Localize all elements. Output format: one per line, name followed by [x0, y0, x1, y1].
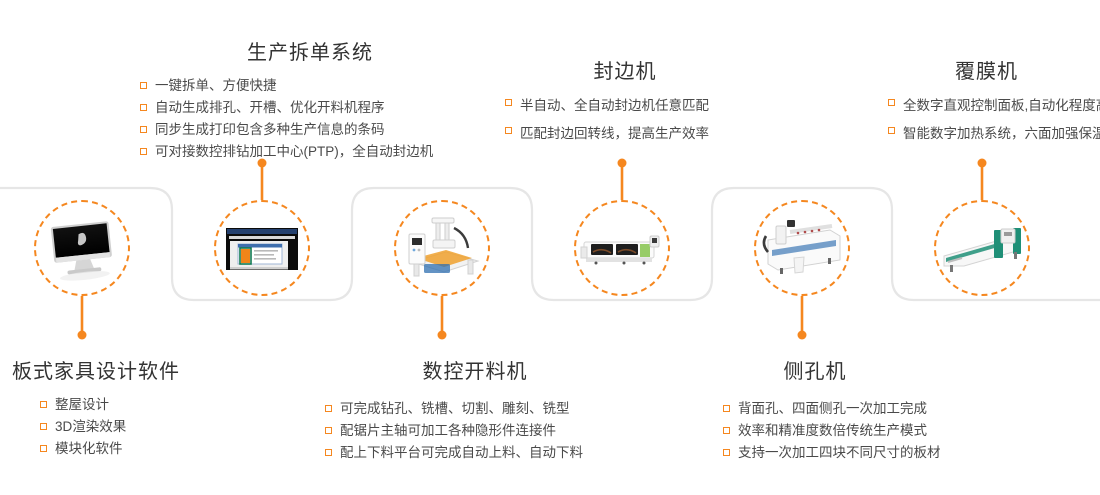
bullet-square-icon — [40, 445, 47, 452]
block-title: 板式家具设计软件 — [12, 355, 272, 384]
list-item: 支持一次加工四块不同尺寸的板材 — [723, 442, 1005, 464]
block-production-splitting-system: 生产拆单系统 一键拆单、方便快捷 自动生成排孔、开槽、优化开料机程序 同步生成打… — [140, 36, 480, 163]
connector-dot-down-3 — [798, 331, 807, 340]
block-edge-banding-machine: 封边机 半自动、全自动封边机任意匹配 匹配封边回转线，提高生产效率 — [505, 55, 745, 148]
list-item: 配锯片主轴可加工各种隐形件连接件 — [325, 420, 625, 442]
node-design-computer[interactable] — [34, 200, 130, 296]
list-item: 匹配封边回转线，提高生产效率 — [505, 120, 745, 148]
list-item: 半自动、全自动封边机任意匹配 — [505, 92, 745, 120]
bullet-square-icon — [723, 449, 730, 456]
list-item: 背面孔、四面侧孔一次加工完成 — [723, 398, 1005, 420]
bullet-square-icon — [888, 127, 895, 134]
list-item: 可完成钻孔、铣槽、切割、雕刻、铣型 — [325, 398, 625, 420]
bullet-list: 可完成钻孔、铣槽、切割、雕刻、铣型 配锯片主轴可加工各种隐形件连接件 配上下料平… — [325, 398, 625, 464]
list-item-label: 同步生成打印包含多种生产信息的条码 — [155, 122, 385, 137]
bullet-square-icon — [325, 427, 332, 434]
list-item-label: 智能数字加热系统，六面加强保温 — [903, 126, 1100, 141]
connector-dot-down-1 — [78, 331, 87, 340]
list-item-label: 背面孔、四面侧孔一次加工完成 — [738, 401, 927, 416]
node-edge-bander[interactable] — [574, 200, 670, 296]
list-item: 一键拆单、方便快捷 — [140, 75, 480, 97]
bullet-list: 背面孔、四面侧孔一次加工完成 效率和精准度数倍传统生产模式 支持一次加工四块不同… — [723, 398, 1005, 464]
list-item: 整屋设计 — [40, 394, 272, 416]
list-item-label: 模块化软件 — [55, 441, 123, 456]
block-title: 生产拆单系统 — [140, 36, 480, 65]
list-item-label: 可对接数控排钻加工中心(PTP)，全自动封边机 — [155, 144, 433, 159]
list-item: 配上下料平台可完成自动上料、自动下料 — [325, 442, 625, 464]
imac-computer-icon — [40, 206, 124, 290]
cnc-router-icon — [400, 206, 484, 290]
bullet-square-icon — [140, 126, 147, 133]
block-title: 侧孔机 — [705, 355, 925, 384]
bullet-square-icon — [505, 127, 512, 134]
list-item-label: 一键拆单、方便快捷 — [155, 78, 277, 93]
list-item-label: 配上下料平台可完成自动上料、自动下料 — [340, 445, 583, 460]
list-item-label: 3D渲染效果 — [55, 419, 126, 434]
bullet-square-icon — [40, 423, 47, 430]
bullet-square-icon — [325, 405, 332, 412]
node-side-driller[interactable] — [754, 200, 850, 296]
connector-dot-down-2 — [438, 331, 447, 340]
node-laminator[interactable] — [934, 200, 1030, 296]
block-title: 封边机 — [505, 55, 745, 84]
bullet-square-icon — [40, 401, 47, 408]
connector-dot-up-2 — [618, 159, 627, 168]
block-title: 覆膜机 — [888, 55, 1085, 84]
block-laminating-machine: 覆膜机 全数字直观控制面板,自动化程度高 智能数字加热系统，六面加强保温 — [888, 55, 1100, 148]
block-panel-furniture-design-software: 板式家具设计软件 整屋设计 3D渲染效果 模块化软件 — [12, 355, 272, 460]
block-side-hole-drilling-machine: 侧孔机 背面孔、四面侧孔一次加工完成 效率和精准度数倍传统生产模式 支持一次加工… — [705, 355, 1005, 464]
bullet-square-icon — [723, 427, 730, 434]
bullet-list: 一键拆单、方便快捷 自动生成排孔、开槽、优化开料机程序 同步生成打印包含多种生产… — [140, 75, 480, 163]
bullet-list: 全数字直观控制面板,自动化程度高 智能数字加热系统，六面加强保温 — [888, 92, 1100, 148]
list-item: 智能数字加热系统，六面加强保温 — [888, 120, 1100, 148]
list-item: 全数字直观控制面板,自动化程度高 — [888, 92, 1100, 120]
list-item-label: 效率和精准度数倍传统生产模式 — [738, 423, 927, 438]
bullet-square-icon — [140, 104, 147, 111]
list-item: 自动生成排孔、开槽、优化开料机程序 — [140, 97, 480, 119]
infographic-canvas: 生产拆单系统 一键拆单、方便快捷 自动生成排孔、开槽、优化开料机程序 同步生成打… — [0, 0, 1100, 495]
connector-dot-up-3 — [978, 159, 987, 168]
node-cnc-router[interactable] — [394, 200, 490, 296]
bullet-square-icon — [140, 148, 147, 155]
list-item-label: 匹配封边回转线，提高生产效率 — [520, 126, 709, 141]
list-item-label: 整屋设计 — [55, 397, 109, 412]
bullet-square-icon — [325, 449, 332, 456]
list-item: 可对接数控排钻加工中心(PTP)，全自动封边机 — [140, 141, 480, 163]
bullet-square-icon — [505, 99, 512, 106]
list-item-label: 自动生成排孔、开槽、优化开料机程序 — [155, 100, 385, 115]
bullet-square-icon — [723, 405, 730, 412]
bullet-list: 整屋设计 3D渲染效果 模块化软件 — [40, 394, 272, 460]
list-item-label: 可完成钻孔、铣槽、切割、雕刻、铣型 — [340, 401, 570, 416]
bullet-list: 半自动、全自动封边机任意匹配 匹配封边回转线，提高生产效率 — [505, 92, 745, 148]
block-cnc-cutting-machine: 数控开料机 可完成钻孔、铣槽、切割、雕刻、铣型 配锯片主轴可加工各种隐形件连接件… — [325, 355, 625, 464]
bullet-square-icon — [140, 82, 147, 89]
software-screen-icon — [220, 206, 304, 290]
list-item: 3D渲染效果 — [40, 416, 272, 438]
list-item-label: 半自动、全自动封边机任意匹配 — [520, 98, 709, 113]
list-item: 模块化软件 — [40, 438, 272, 460]
list-item-label: 配锯片主轴可加工各种隐形件连接件 — [340, 423, 556, 438]
side-driller-icon — [760, 206, 844, 290]
list-item: 同步生成打印包含多种生产信息的条码 — [140, 119, 480, 141]
edge-bander-icon — [580, 206, 664, 290]
bullet-square-icon — [888, 99, 895, 106]
list-item-label: 全数字直观控制面板,自动化程度高 — [903, 98, 1100, 113]
laminator-icon — [940, 206, 1024, 290]
list-item: 效率和精准度数倍传统生产模式 — [723, 420, 1005, 442]
block-title: 数控开料机 — [325, 355, 625, 384]
node-splitting-screen[interactable] — [214, 200, 310, 296]
list-item-label: 支持一次加工四块不同尺寸的板材 — [738, 445, 941, 460]
